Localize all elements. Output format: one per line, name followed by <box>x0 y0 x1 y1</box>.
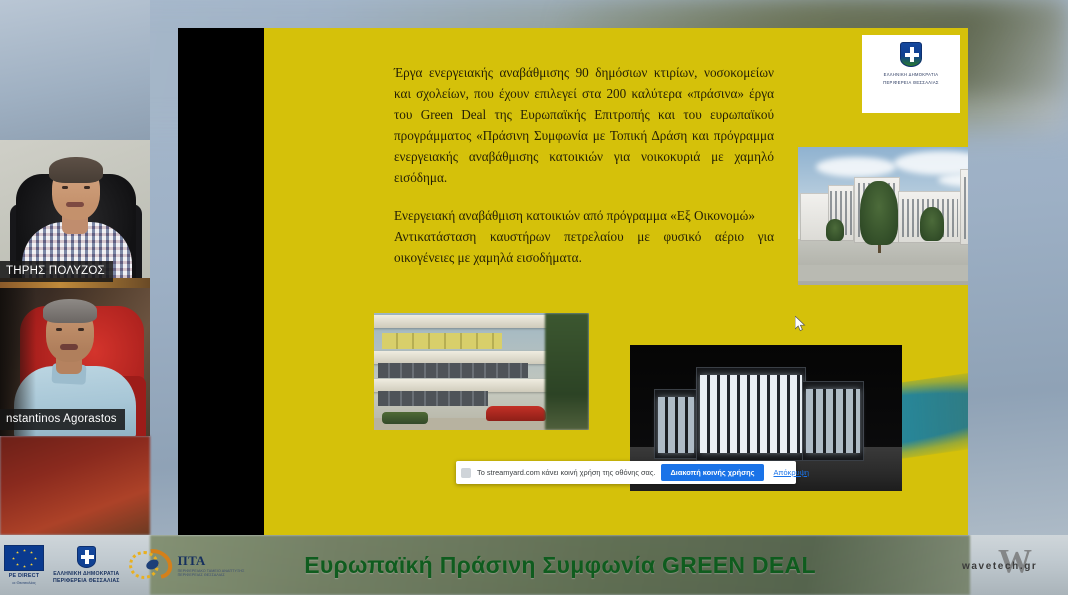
hospital-tree-1 <box>860 181 898 245</box>
hellenic-republic-line-1: ΕΛΛΗΝΙΚΗ ΔΗΜΟΚΡΑΤΙΑ <box>53 571 119 577</box>
participant-1-nameplate: ΤΗΡΗΣ ΠΟΛΥΖΟΣ <box>0 261 113 282</box>
pta-name: ΠΤΑ <box>178 554 245 567</box>
emblem-line-1: ΕΛΛΗΝΙΚΗ ΔΗΜΟΚΡΑΤΙΑ <box>884 72 939 77</box>
slide-region-emblem: ΕΛΛΗΝΙΚΗ ΔΗΜΟΚΡΑΤΙΑ ΠΕΡΙΦΕΡΕΙΑ ΘΕΣΣΑΛΙΑΣ <box>862 35 960 113</box>
night-windows-left <box>658 397 694 453</box>
tile1-eye-right <box>84 186 90 189</box>
mouse-cursor <box>795 316 806 331</box>
eu-stars <box>5 546 43 570</box>
greek-coat-of-arms-icon <box>77 546 96 568</box>
europe-direct-caption: PE DIRECT <box>9 573 40 579</box>
europe-direct-subcaption: οι Θεσσαλίας <box>12 580 36 585</box>
modern-dark-windows-1 <box>378 363 528 378</box>
tile1-eye-left <box>62 186 68 189</box>
pta-swirl-icon <box>129 548 175 582</box>
pta-text-block: ΠΤΑ ΠΕΡΙΦΕΡΕΙΑΚΟ ΤΑΜΕΙΟ ΑΝΑΠΤΥΞΗΣ ΠΕΡΙΦΕ… <box>178 554 245 577</box>
emblem-line-2: ΠΕΡΙΦΕΡΕΙΑ ΘΕΣΣΑΛΙΑΣ <box>883 80 939 85</box>
greek-coat-of-arms-icon <box>900 42 922 67</box>
left-column-bottom-filler <box>0 436 150 535</box>
hospital-tree-2 <box>920 207 944 241</box>
modern-tree-right <box>545 313 589 430</box>
share-screen-icon <box>461 468 471 478</box>
screen-share-notification[interactable]: Το streamyard.com κάνει κοινή χρήση της … <box>456 461 796 484</box>
modern-slab-1 <box>374 315 570 328</box>
presentation-slide: ΕΛΛΗΝΙΚΗ ΔΗΜΟΚΡΑΤΙΑ ΠΕΡΙΦΕΡΕΙΑ ΘΕΣΣΑΛΙΑΣ… <box>264 28 968 535</box>
left-column-top-filler <box>0 0 150 140</box>
tile2-eye-left <box>56 328 62 331</box>
modern-dark-windows-2 <box>378 391 488 406</box>
stop-sharing-button[interactable]: Διακοπή κοινής χρήσης <box>661 464 763 481</box>
pta-sub-2: ΠΕΡΙΦΕΡΕΙΑΣ ΘΕΣΣΑΛΙΑΣ <box>178 573 245 577</box>
modern-shrubs-left <box>382 412 428 424</box>
shared-screen-area[interactable]: ΕΛΛΗΝΙΚΗ ΔΗΜΟΚΡΑΤΙΑ ΠΕΡΙΦΕΡΕΙΑ ΘΕΣΣΑΛΙΑΣ… <box>178 28 968 535</box>
banner-logo-group: PE DIRECT οι Θεσσαλίας ΕΛΛΗΝΙΚΗ ΔΗΜΟΚΡΑΤ… <box>4 538 244 592</box>
hide-notification-link[interactable]: Απόκρυψη <box>770 468 813 477</box>
europe-direct-logo: PE DIRECT οι Θεσσαλίας <box>4 545 44 585</box>
slide-paragraph-1: Έργα ενεργειακής αναβάθμισης 90 δημόσιων… <box>394 62 774 188</box>
hospital-windows-right <box>964 177 968 239</box>
wavetech-watermark: W wavetech.gr <box>960 547 1064 585</box>
eu-flag-icon <box>4 545 44 571</box>
tile2-hair <box>43 299 97 323</box>
night-windows-right <box>806 389 860 453</box>
watermark-text: wavetech.gr <box>962 561 1037 572</box>
night-windows-center <box>700 375 802 453</box>
slide-image-modernist-building <box>374 313 589 430</box>
slide-body-text: Έργα ενεργειακής αναβάθμισης 90 δημόσιων… <box>394 62 774 268</box>
slide-paragraph-2: Ενεργειακή αναβάθμιση κατοικιών από πρόγ… <box>394 205 774 226</box>
tile1-hair <box>49 157 103 183</box>
modern-red-car <box>486 406 546 421</box>
participant-2-nameplate: nstantinos Agorastos <box>0 409 125 430</box>
hospital-tree-3 <box>826 219 844 241</box>
hospital-cloud-1 <box>816 157 896 177</box>
slide-paragraph-3: Αντικατάσταση καυστήρων πετρελαίου με φυ… <box>394 226 774 268</box>
slide-image-hospital-complex <box>798 147 968 285</box>
modern-yellow-glazing <box>382 333 502 349</box>
hellenic-republic-logo: ΕΛΛΗΝΙΚΗ ΔΗΜΟΚΡΑΤΙΑ ΠΕΡΙΦΕΡΕΙΑ ΘΕΣΣΑΛΙΑΣ <box>53 546 120 584</box>
tile2-mouth <box>60 344 78 350</box>
banner-title: Ευρωπαϊκή Πράσινη Συμφωνία GREEN DEAL <box>150 535 970 595</box>
pta-logo: ΠΤΑ ΠΕΡΙΦΕΡΕΙΑΚΟ ΤΑΜΕΙΟ ΑΝΑΠΤΥΞΗΣ ΠΕΡΙΦΕ… <box>129 548 245 582</box>
hellenic-republic-line-2: ΠΕΡΙΦΕΡΕΙΑ ΘΕΣΣΑΛΙΑΣ <box>53 578 120 584</box>
share-message: Το streamyard.com κάνει κοινή χρήση της … <box>477 468 655 477</box>
tile2-eye-right <box>78 328 84 331</box>
screen-root: ΤΗΡΗΣ ΠΟΛΥΖΟΣ nstantinos Agorastos ΕΛΛΗΝ… <box>0 0 1068 595</box>
tile1-mouth <box>66 202 84 207</box>
hospital-road <box>798 265 968 281</box>
bottom-banner: Ευρωπαϊκή Πράσινη Συμφωνία GREEN DEAL <box>0 535 1068 595</box>
